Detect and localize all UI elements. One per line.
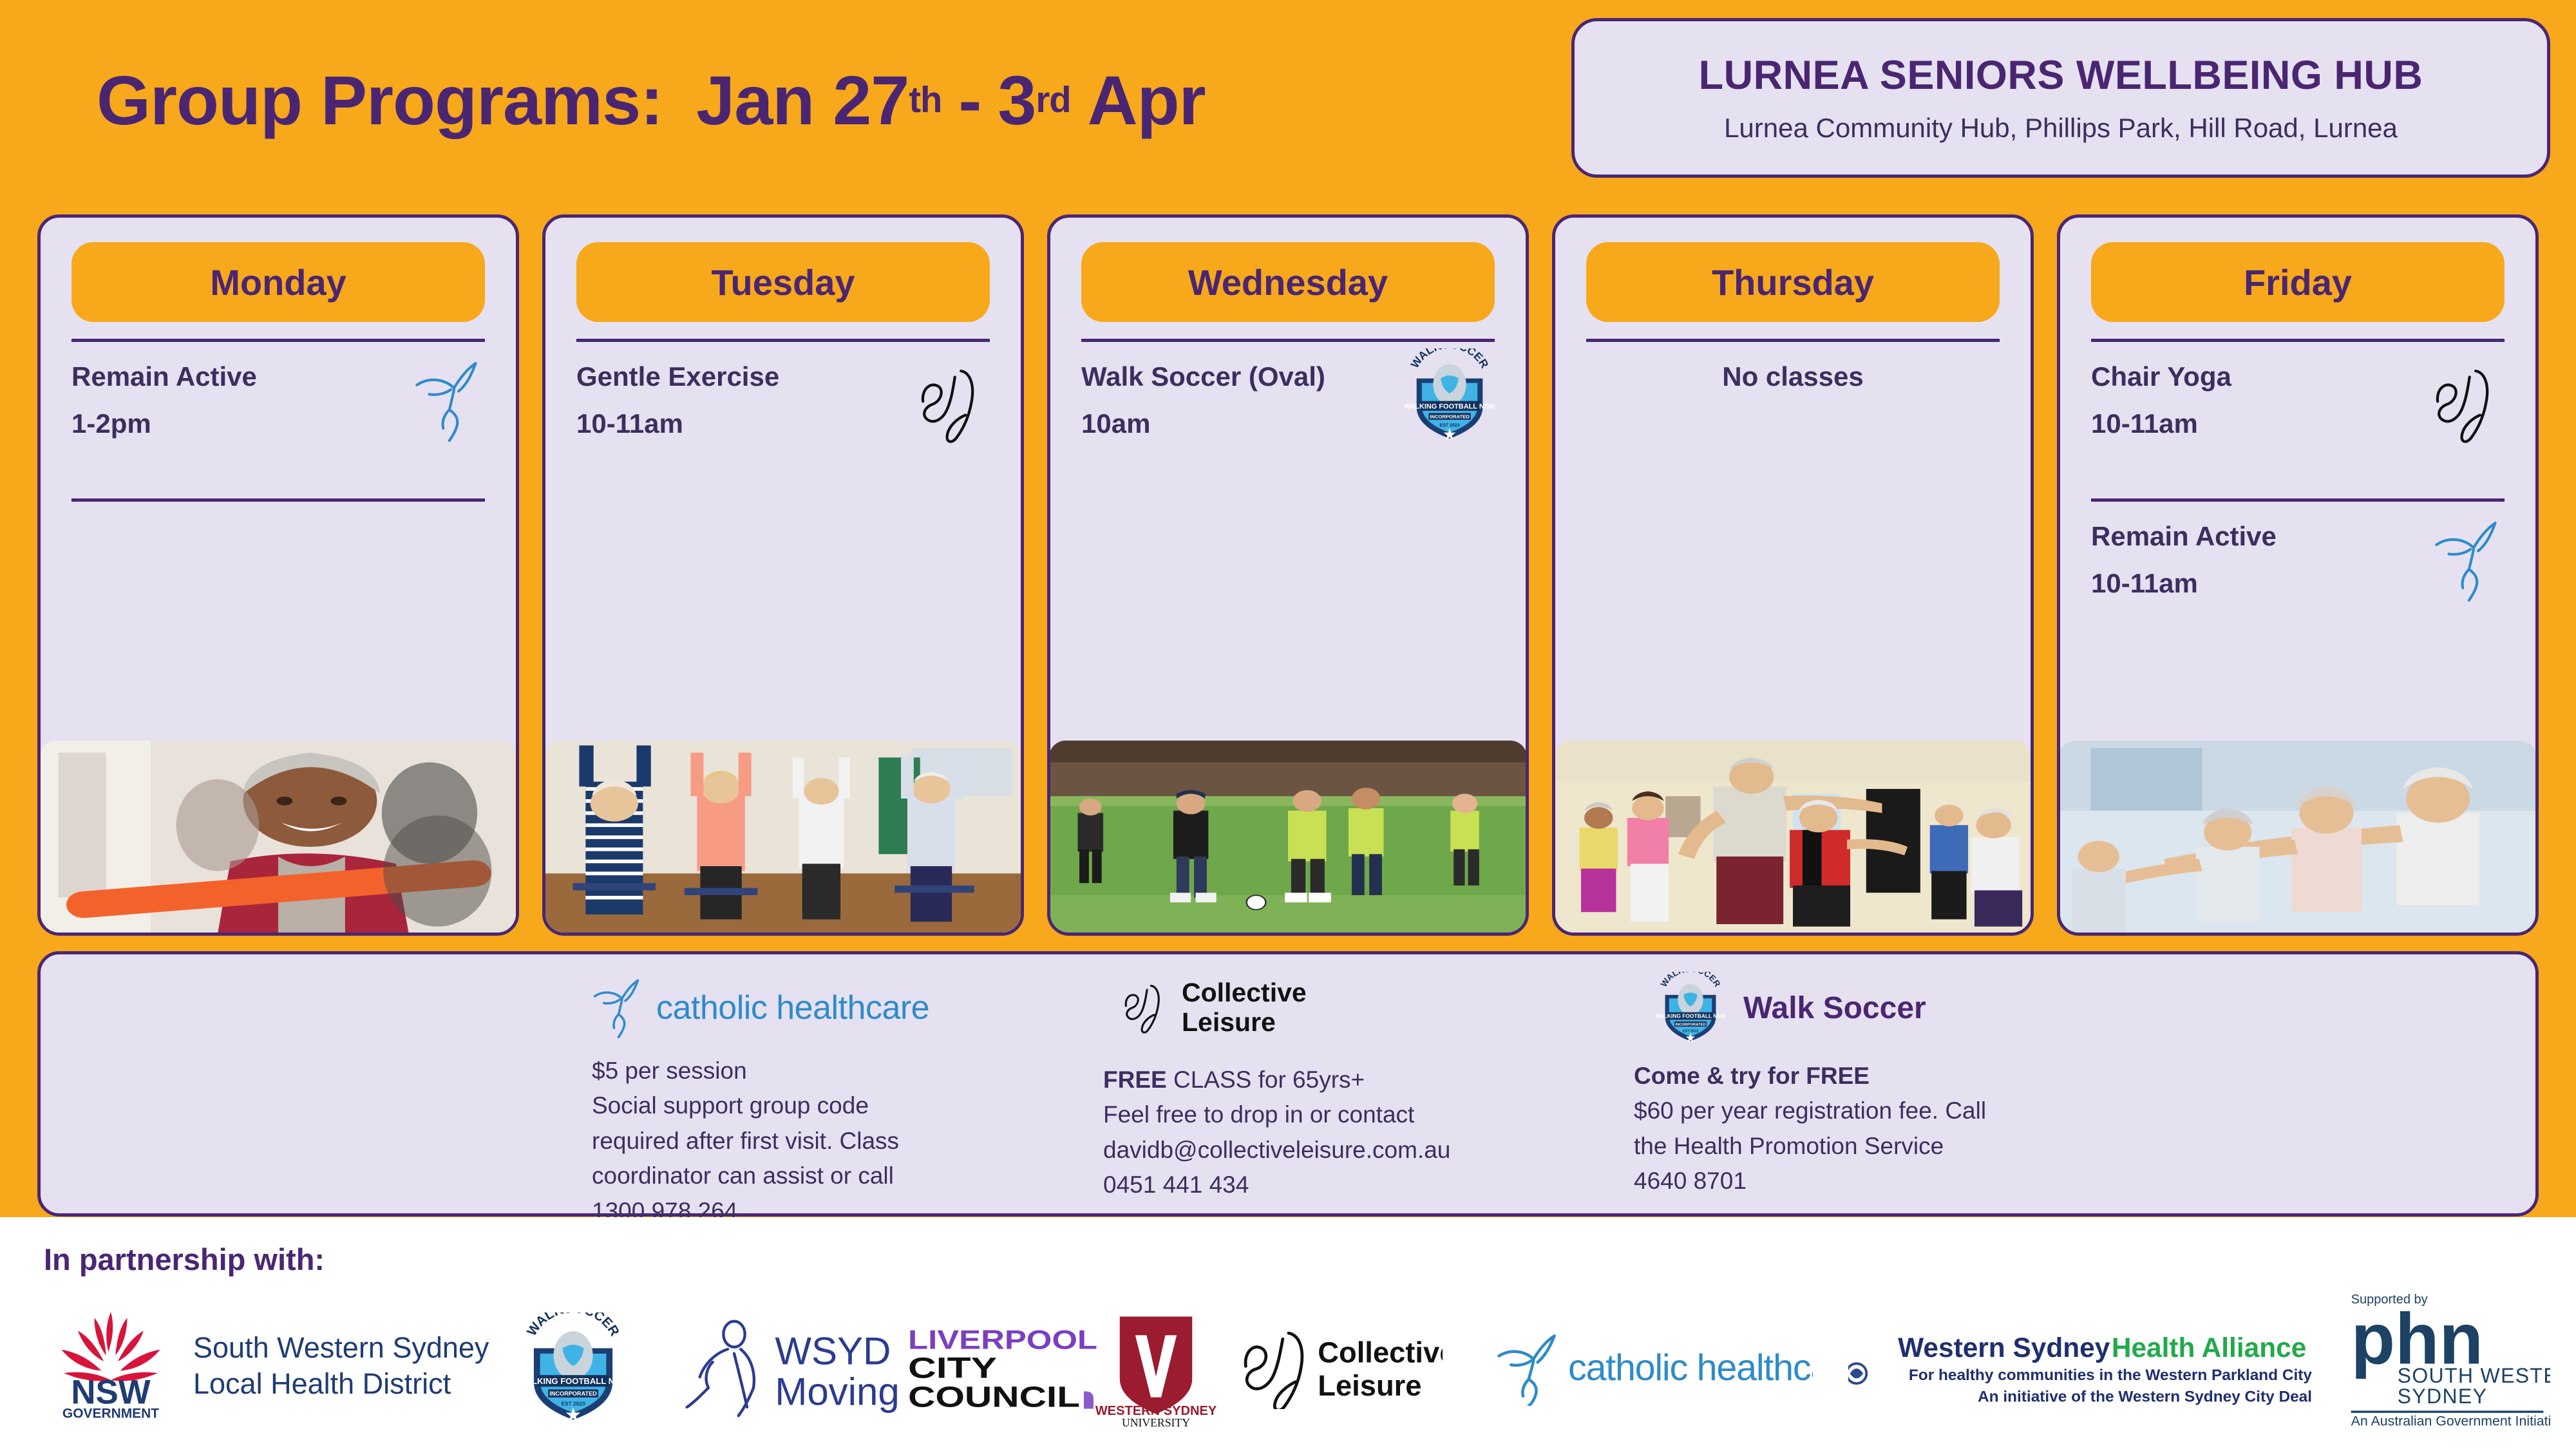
detail-line: $60 per year registration fee. Call — [1634, 1094, 2153, 1128]
swslhd-line-2: Local Health District — [193, 1366, 489, 1402]
svg-text:CITY: CITY — [908, 1352, 997, 1385]
western-sydney-university-logo: WESTERN SYDNEY UNIVERSITY — [1088, 1312, 1224, 1428]
svg-text:An initiative of the Western S: An initiative of the Western Sydney City… — [1978, 1388, 2312, 1405]
walksoccer-footer-logo: WALKING FOOTBALL NSW INCORPORATED EST 20… — [515, 1312, 631, 1425]
detail-line-phone: 4640 8701 — [1634, 1164, 2153, 1198]
detail-line: $5 per session — [592, 1054, 1058, 1088]
day-header-thursday: Thursday — [1586, 242, 2000, 322]
svg-text:Moving: Moving — [775, 1370, 899, 1414]
catholic-healthcare-logo: catholic healthcare — [582, 972, 1058, 1043]
day-card-friday: Friday Chair Yoga 10-11am — [2057, 214, 2539, 936]
svg-text:INCORPORATED: INCORPORATED — [1430, 414, 1470, 420]
class-time: 10-11am — [2091, 409, 2395, 439]
western-sydney-health-alliance-logo: Western Sydney Health Alliance For healt… — [1848, 1327, 2312, 1410]
class-slot: Chair Yoga 10-11am — [2091, 339, 2505, 498]
detail-line: required after first visit. Class — [592, 1124, 1058, 1159]
venue-name: LURNEA SENIORS WELLBEING HUB — [1699, 52, 2423, 99]
photo-wednesday — [1049, 741, 1527, 934]
walksoccer-logo: WALKING FOOTBALL NSW INCORPORATED EST 20… — [1625, 972, 2153, 1043]
svg-text:An Australian Government Initi: An Australian Government Initiative — [2351, 1414, 2550, 1428]
svg-text:EST 2023: EST 2023 — [1439, 423, 1459, 428]
venue-address: Lurnea Community Hub, Phillips Park, Hil… — [1724, 113, 2398, 144]
day-header-friday: Friday — [2091, 242, 2505, 322]
venue-box: LURNEA SENIORS WELLBEING HUB Lurnea Comm… — [1571, 18, 2550, 178]
catholic-healthcare-bird-icon — [2408, 518, 2505, 615]
photo-friday-wrap — [2060, 739, 2535, 933]
provider-catholic-healthcare: catholic healthcare $5 per session Socia… — [582, 954, 1058, 1213]
collective-leisure-word-1: Collective — [1182, 978, 1307, 1007]
photo-thursday — [1554, 741, 2032, 934]
svg-text:Leisure: Leisure — [1318, 1369, 1421, 1402]
lead-rest: CLASS for 65yrs+ — [1167, 1066, 1365, 1093]
svg-text:For healthy communities in the: For healthy communities in the Western P… — [1909, 1367, 2312, 1384]
day-header-monday: Monday — [71, 242, 485, 322]
phn-south-western-sydney-logo: Supported by phn SOUTH WESTERN SYDNEY An… — [2344, 1289, 2550, 1428]
class-slot: Walk Soccer (Oval) 10am WALKING FOOTBALL… — [1081, 339, 1495, 498]
class-slot: Remain Active 10-11am — [2091, 498, 2505, 658]
day-header-wednesday: Wednesday — [1081, 242, 1495, 322]
svg-text:WALKING FOOTBALL NSW: WALKING FOOTBALL NSW — [1656, 1012, 1725, 1019]
provider-collective-leisure: Collective Leisure FREE CLASS for 65yrs+… — [1097, 954, 1586, 1213]
svg-text:EST 2023: EST 2023 — [561, 1400, 585, 1406]
title-dash: - — [958, 60, 981, 140]
class-slot-empty — [1586, 498, 2000, 658]
detail-line: Feel free to drop in or contact — [1103, 1097, 1586, 1132]
svg-text:INCORPORATED: INCORPORATED — [1675, 1023, 1706, 1027]
class-time: 10am — [1081, 409, 1385, 439]
provider-info-panel: catholic healthcare $5 per session Socia… — [37, 951, 2539, 1217]
class-name: No classes — [1586, 361, 2000, 392]
svg-text:GOVERNMENT: GOVERNMENT — [62, 1406, 159, 1420]
class-name: Gentle Exercise — [576, 361, 880, 392]
day-header-tuesday: Tuesday — [576, 242, 990, 322]
svg-text:Collective: Collective — [1318, 1336, 1443, 1368]
svg-text:catholic healthcare: catholic healthcare — [1568, 1347, 1813, 1388]
svg-text:LIVERPOOL: LIVERPOOL — [908, 1325, 1097, 1355]
collective-leisure-icon — [893, 359, 990, 455]
class-name: Remain Active — [71, 361, 375, 392]
collective-leisure-word-2: Leisure — [1182, 1007, 1276, 1037]
svg-text:WALKING FOOTBALL NSW: WALKING FOOTBALL NSW — [518, 1376, 629, 1386]
class-slot: Remain Active 1-2pm — [71, 339, 485, 498]
class-name: Chair Yoga — [2091, 361, 2395, 392]
svg-text:Western Sydney: Western Sydney — [1898, 1332, 2110, 1363]
photo-monday-wrap — [41, 739, 516, 933]
class-time: 1-2pm — [71, 409, 375, 439]
photo-thursday-wrap — [1555, 739, 2031, 933]
title-date-start: Jan 27 — [696, 60, 909, 140]
catholic-healthcare-footer-logo: catholic healthcare — [1491, 1332, 1813, 1406]
footer-title: In partnership with: — [44, 1242, 325, 1277]
photo-wednesday-wrap — [1050, 739, 1526, 933]
weekly-schedule: Monday Remain Active 1-2pm — [37, 214, 2539, 936]
class-slot-empty — [576, 498, 990, 658]
provider-details: Come & try for FREE $60 per year registr… — [1625, 1059, 2153, 1199]
catholic-healthcare-wordmark: catholic healthcare — [656, 989, 929, 1027]
day-card-tuesday: Tuesday Gentle Exercise 10-11am — [542, 214, 1024, 936]
title-main: Group Programs: — [97, 60, 663, 140]
day-card-thursday: Thursday No classes — [1552, 214, 2034, 936]
svg-text:UNIVERSITY: UNIVERSITY — [1122, 1416, 1190, 1428]
detail-line: the Health Promotion Service — [1634, 1129, 2153, 1164]
class-slot: No classes — [1586, 339, 2000, 498]
class-slot-empty — [1081, 498, 1495, 658]
title-month-end: Apr — [1088, 60, 1206, 140]
svg-text:SYDNEY: SYDNEY — [2398, 1385, 2488, 1408]
footer-partners: In partnership with: NSW GOVERNMENT — [0, 1217, 2576, 1449]
catholic-healthcare-bird-icon — [388, 359, 485, 455]
wsyd-moving-logo: WSYD Moving — [683, 1317, 902, 1420]
svg-text:COUNCIL: COUNCIL — [908, 1381, 1080, 1410]
class-slot: Gentle Exercise 10-11am — [576, 339, 990, 498]
svg-text:INCORPORATED: INCORPORATED — [549, 1390, 597, 1397]
day-card-monday: Monday Remain Active 1-2pm — [37, 214, 519, 936]
detail-lead: FREE CLASS for 65yrs+ — [1103, 1063, 1586, 1097]
detail-line-phone: 0451 441 434 — [1103, 1168, 1586, 1202]
class-name: Walk Soccer (Oval) — [1081, 361, 1385, 392]
photo-monday — [39, 741, 517, 934]
provider-details: $5 per session Social support group code… — [582, 1054, 1058, 1229]
page-title: Group Programs:Jan 27th-3rdApr — [97, 39, 1546, 161]
detail-line-email: davidb@collectiveleisure.com.au — [1103, 1133, 1586, 1168]
swslhd-name: South Western Sydney Local Health Distri… — [193, 1330, 489, 1403]
free-badge: FREE — [1103, 1066, 1167, 1093]
detail-line: Social support group code — [592, 1088, 1058, 1123]
liverpool-city-council-logo: LIVERPOOL CITY COUNCIL — [908, 1325, 1101, 1409]
title-date-end: 3 — [998, 60, 1036, 140]
provider-walk-soccer: WALKING FOOTBALL NSW INCORPORATED EST 20… — [1625, 954, 2153, 1213]
class-time: 10-11am — [576, 409, 880, 439]
svg-text:SOUTH WESTERN: SOUTH WESTERN — [2398, 1364, 2550, 1387]
detail-lead: Come & try for FREE — [1634, 1059, 2153, 1094]
class-time: 10-11am — [2091, 569, 2395, 598]
svg-text:EST 2023: EST 2023 — [1683, 1029, 1698, 1033]
photo-tuesday-wrap — [545, 739, 1021, 933]
collective-leisure-icon — [2408, 359, 2505, 455]
svg-text:Health Alliance: Health Alliance — [2112, 1332, 2306, 1363]
photo-tuesday — [544, 741, 1022, 934]
provider-details: FREE CLASS for 65yrs+ Feel free to drop … — [1097, 1063, 1586, 1203]
walksoccer-shield-icon: WALKING FOOTBALL NSW INCORPORATED EST 20… — [1398, 348, 1495, 445]
walk-soccer-label: Walk Soccer — [1743, 990, 1926, 1026]
class-name: Remain Active — [2091, 521, 2395, 552]
photo-friday — [2059, 741, 2537, 934]
nsw-government-logo: NSW GOVERNMENT — [40, 1307, 182, 1420]
class-slot-empty — [71, 498, 485, 658]
swslhd-line-1: South Western Sydney — [193, 1330, 489, 1366]
collective-leisure-footer-logo: Collective Leisure — [1230, 1325, 1443, 1409]
svg-text:WSYD: WSYD — [775, 1329, 891, 1372]
collective-leisure-logo: Collective Leisure — [1097, 972, 1586, 1043]
poster-root: Group Programs:Jan 27th-3rdApr LURNEA SE… — [0, 0, 2576, 1449]
day-card-wednesday: Wednesday Walk Soccer (Oval) 10am — [1047, 214, 1529, 936]
svg-text:WALKING FOOTBALL NSW: WALKING FOOTBALL NSW — [1405, 402, 1495, 410]
detail-line: coordinator can assist or call — [592, 1159, 1058, 1193]
